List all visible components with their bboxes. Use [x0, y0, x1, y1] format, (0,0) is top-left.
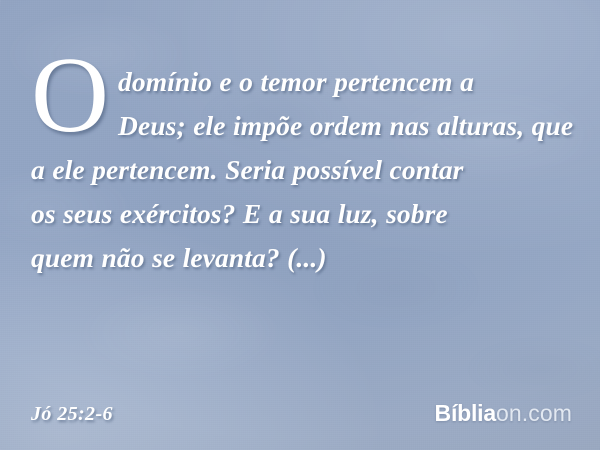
verse-text: domínio e o temor pertencem a Deus; ele … [31, 60, 576, 280]
verse-line: os seus exércitos? E a sua luz, sobre [31, 192, 576, 236]
bibliaon-logo[interactable]: Bíbliaon.com [435, 402, 572, 425]
verse-text-block: O domínio e o temor pertencem a Deus; el… [31, 60, 576, 280]
verse-image-card: O domínio e o temor pertencem a Deus; el… [0, 0, 600, 450]
card-content: O domínio e o temor pertencem a Deus; el… [0, 0, 600, 450]
logo-text-biblia: Bíblia [435, 400, 496, 426]
verse-line: a ele pertencem. Seria possível contar [31, 148, 576, 192]
logo-text-oncom: on.com [496, 400, 572, 426]
verse-line: quem não se levanta? (...) [31, 236, 576, 280]
verse-reference: Jó 25:2-6 [31, 403, 113, 426]
verse-line: domínio e o temor pertencem a [31, 60, 576, 104]
verse-line: Deus; ele impõe ordem nas alturas, que [31, 104, 576, 148]
verse-drop-cap: O [31, 56, 109, 136]
